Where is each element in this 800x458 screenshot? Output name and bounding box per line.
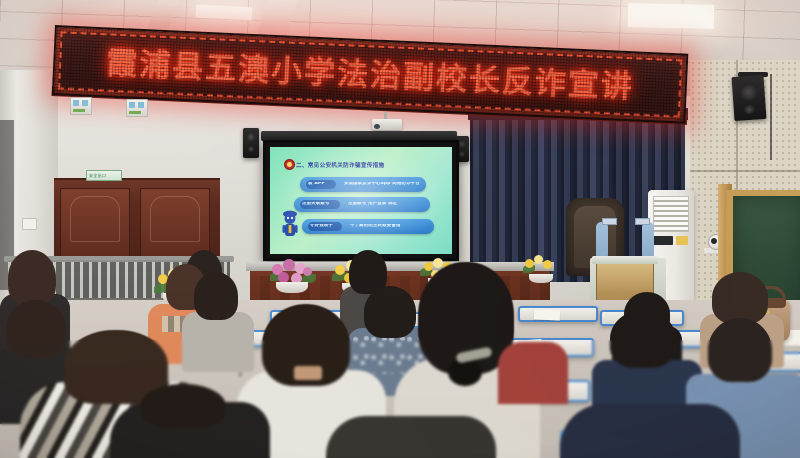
speaker-cable-right <box>770 74 772 160</box>
lecture-hall-photo: 霞浦县五澳小学法治副校长反诈宣讲 <box>0 0 800 458</box>
ac-energy-label <box>676 236 688 245</box>
person-hair <box>8 250 56 306</box>
ac-vent-grille <box>653 196 689 232</box>
door-arch-right <box>150 196 200 242</box>
audience-person <box>498 322 568 402</box>
person-torso <box>326 416 496 458</box>
audience-person <box>560 394 740 458</box>
lectern-top <box>592 256 658 264</box>
camera-lens <box>711 238 717 244</box>
ac-display-panel[interactable] <box>653 236 673 245</box>
light-switch[interactable] <box>22 218 37 230</box>
officer-epaulette-left <box>602 218 617 225</box>
officer-epaulette-right <box>635 218 650 225</box>
slide-projection-glow <box>270 147 452 254</box>
officer-arm-right <box>642 222 654 260</box>
audience-person <box>326 408 496 458</box>
person-hair <box>610 310 676 368</box>
emergency-light-label-2 <box>129 111 141 114</box>
wall-speaker-left <box>243 128 259 158</box>
person-torso <box>498 342 568 404</box>
exit-sign: 安全出口 <box>86 170 122 181</box>
wall-seam-2 <box>690 170 800 172</box>
officer-arm-left <box>596 222 608 260</box>
person-hair <box>140 384 226 428</box>
emergency-light-2 <box>126 99 148 117</box>
person-neck <box>294 366 322 380</box>
hair-bun <box>448 358 482 386</box>
person-hair <box>712 272 768 324</box>
audience-person <box>110 384 270 458</box>
person-hair <box>194 272 238 320</box>
slide-canvas: 二、常见公安机关防诈骗宣传措施 装 APP 安装国家反诈中心app 网络防诈平台… <box>270 147 452 254</box>
paper-on-desk <box>534 309 560 320</box>
door-arch-left <box>70 196 120 242</box>
emergency-light-1 <box>70 97 92 115</box>
wall-speaker-right <box>732 75 767 121</box>
person-hair <box>708 318 772 382</box>
emergency-light-label-1 <box>73 109 85 112</box>
flower-arrangement-pink <box>266 258 320 294</box>
person-torso <box>560 404 740 458</box>
exit-sign-text: 安全出口 <box>89 173 106 179</box>
projection-screen: 二、常见公安机关防诈骗宣传措施 装 APP 安装国家反诈中心app 网络防诈平台… <box>263 140 459 261</box>
projector-lens <box>374 124 380 129</box>
